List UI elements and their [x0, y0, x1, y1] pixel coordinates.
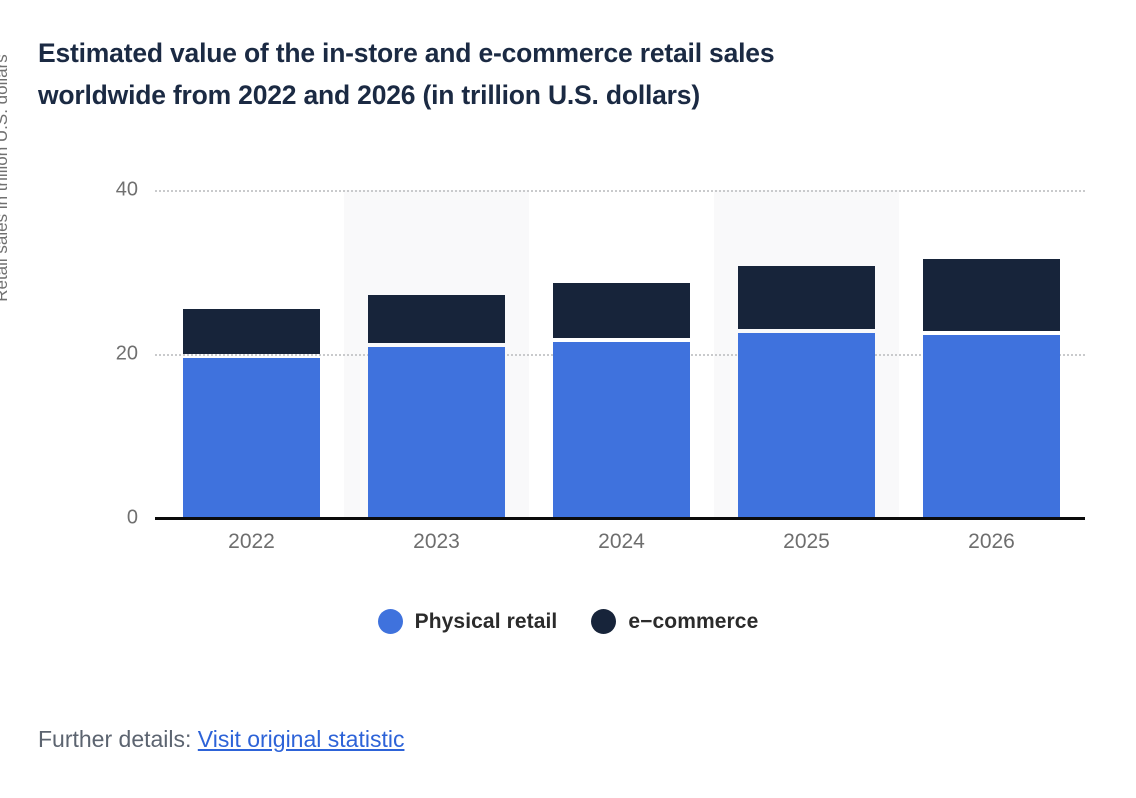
bar-2022-ecommerce[interactable]	[183, 309, 320, 354]
footer-prefix: Further details:	[38, 726, 191, 752]
gridline-40	[155, 190, 1085, 192]
bar-2026-ecommerce[interactable]	[923, 259, 1060, 331]
bar-2025[interactable]	[738, 266, 875, 518]
bar-chart: Retail sales in trillion U.S. dollars 40…	[0, 0, 1136, 600]
bar-2025-physical-retail[interactable]	[738, 333, 875, 518]
y-axis-ticks: 40 20 0	[78, 190, 138, 518]
circle-marker-icon-physical-retail	[378, 609, 403, 634]
bar-2024-ecommerce[interactable]	[553, 283, 690, 338]
bar-2022-physical-retail[interactable]	[183, 358, 320, 518]
x-axis-ticks: 2022 2023 2024 2025 2026	[155, 530, 1085, 570]
y-tick-0: 0	[78, 507, 138, 530]
x-tick-2025: 2025	[738, 530, 875, 554]
footer: Further details: Visit original statisti…	[38, 726, 404, 753]
bar-2023-physical-retail[interactable]	[368, 347, 505, 518]
legend-item-physical-retail[interactable]: Physical retail	[378, 609, 558, 634]
bar-2025-ecommerce[interactable]	[738, 266, 875, 329]
y-tick-20: 20	[78, 343, 138, 366]
circle-marker-icon-ecommerce	[591, 609, 616, 634]
legend-label-ecommerce: e−commerce	[628, 610, 758, 634]
chart-legend: Physical retail e−commerce	[0, 609, 1136, 634]
bar-2023[interactable]	[368, 295, 505, 518]
bar-2022[interactable]	[183, 309, 320, 518]
y-tick-40: 40	[78, 179, 138, 202]
x-axis-line	[155, 517, 1085, 520]
legend-item-ecommerce[interactable]: e−commerce	[591, 609, 758, 634]
bar-2026[interactable]	[923, 259, 1060, 518]
plot-area	[155, 190, 1085, 518]
bar-2023-ecommerce[interactable]	[368, 295, 505, 343]
bar-2024-physical-retail[interactable]	[553, 342, 690, 518]
x-tick-2026: 2026	[923, 530, 1060, 554]
y-axis-title: Retail sales in trillion U.S. dollars	[0, 0, 12, 368]
x-tick-2023: 2023	[368, 530, 505, 554]
original-statistic-link[interactable]: Visit original statistic	[198, 726, 405, 752]
chart-page: Estimated value of the in-store and e-co…	[0, 0, 1136, 798]
x-tick-2022: 2022	[183, 530, 320, 554]
x-tick-2024: 2024	[553, 530, 690, 554]
bar-2024[interactable]	[553, 283, 690, 518]
legend-label-physical-retail: Physical retail	[415, 610, 558, 634]
bar-2026-physical-retail[interactable]	[923, 335, 1060, 518]
